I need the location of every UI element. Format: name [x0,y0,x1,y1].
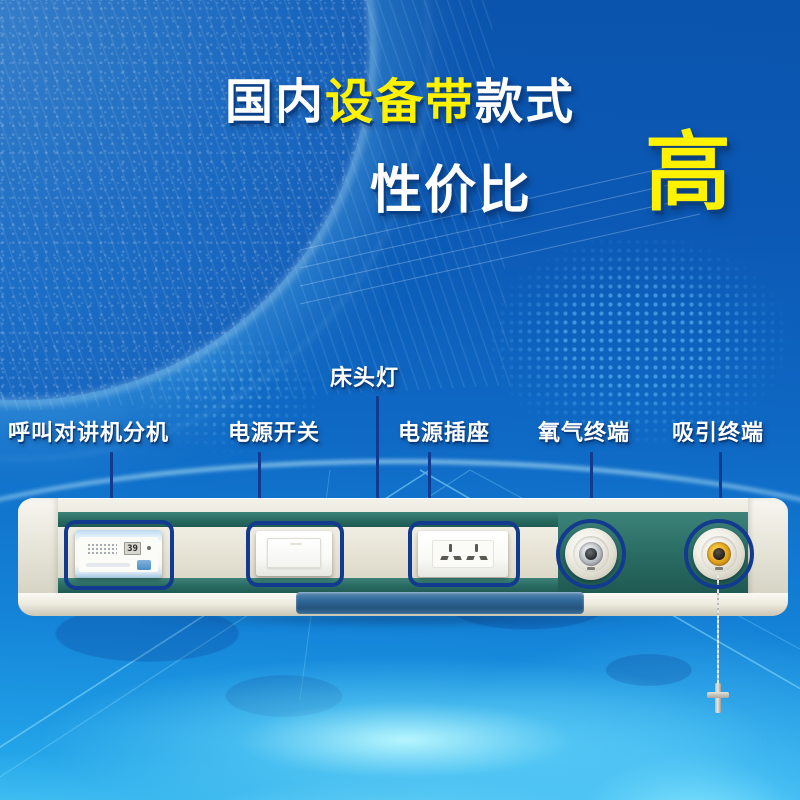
callout-label-socket: 电源插座 [398,415,490,447]
intercom-call-button[interactable] [137,560,151,570]
switch-indicator-mark [290,543,302,545]
oxygen-terminal-port-icon [585,548,597,560]
power-socket[interactable] [418,531,508,577]
oxygen-terminal-marking [587,567,595,570]
socket-pin-right-icon [453,556,462,560]
suction-terminal[interactable] [693,528,745,580]
socket-pin-left-icon [440,556,449,560]
intercom-faceplate: 39 [79,537,158,572]
callout-label-switch: 电源开关 [228,415,320,447]
poster-canvas: 国内设备带款式 性价比 高 呼叫对讲机分机 电源开关 床头灯 电源插座 氧气终端… [0,0,800,800]
status-led-icon [147,546,151,550]
intercom-slot [86,563,130,567]
suction-terminal-marking [715,567,723,570]
pull-cord[interactable] [717,575,719,689]
callout-label-suction: 吸引终端 [672,415,764,447]
socket-pin-top-icon [475,544,478,552]
socket-outlet-2[interactable] [465,544,489,566]
socket-outlet-1[interactable] [439,544,463,566]
callout-label-intercom: 呼叫对讲机分机 [8,415,169,447]
socket-pin-right-icon [479,556,488,560]
power-switch[interactable] [256,531,332,576]
call-intercom-unit[interactable]: 39 [75,530,162,578]
bed-lamp-diffuser[interactable] [296,592,584,614]
pull-cord-weight[interactable] [707,683,729,713]
cord-weight-horizontal [707,692,729,698]
socket-pin-left-icon [466,556,475,560]
suction-terminal-port-icon [713,548,725,560]
callout-label-oxygen: 氧气终端 [538,415,630,447]
callout-label-bed-lamp: 床头灯 [330,360,399,392]
socket-pin-top-icon [449,544,452,552]
speaker-grille-icon [87,543,117,556]
switch-rocker[interactable] [267,538,321,568]
intercom-display: 39 [124,542,141,555]
socket-faceplate [432,540,494,568]
oxygen-terminal[interactable] [565,528,617,580]
cord-weight-vertical [715,683,721,713]
callout-layer: 呼叫对讲机分机 电源开关 床头灯 电源插座 氧气终端 吸引终端 [0,0,800,800]
